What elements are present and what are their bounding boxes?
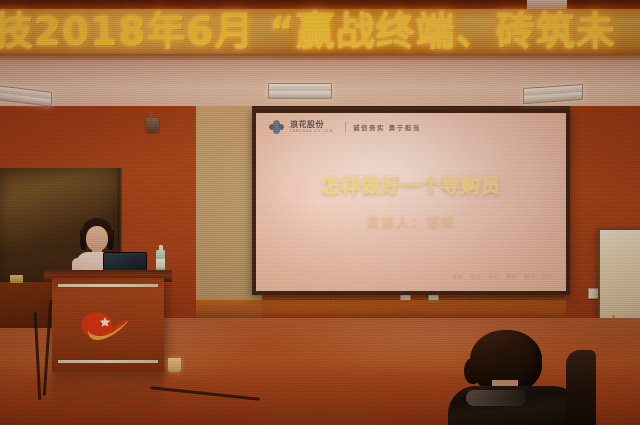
conference-room-photo: 浪花股份 LANGHUA CO.,LTD 诚信务实 勇于担当 怎样做好一个导购员… [0,0,640,425]
slide-footer-tag: 专心 [487,273,500,281]
podium-logo [78,308,134,348]
slide-footer-tags: 专业 专注 专心 责任 担当 执行 [451,273,554,281]
speaker-podium [52,278,164,372]
podium-trim-top [58,284,158,287]
slide-footer-tag: 责任 [505,273,518,281]
slide-subtitle: 演讲人：邹峰 [256,212,566,231]
laptop-screen [107,255,143,271]
slide-footer-tag: 担当 [523,273,536,281]
banner-text: 技2018年6月 “赢战终端、砖筑未 [0,6,640,52]
logo-company-sub: LANGHUA CO.,LTD [290,130,333,133]
logo-wordmark: 浪花股份 LANGHUA CO.,LTD [290,121,333,134]
attendee-second-person [566,350,596,425]
logo-tagline: 诚信务实 勇于担当 [345,122,421,132]
flipchart-easel [598,228,640,318]
slide-company-logo: 浪花股份 LANGHUA CO.,LTD 诚信务实 勇于担当 [269,120,421,134]
slide-footer-tag: 执行 [541,273,554,281]
swoosh-star-icon [78,310,132,344]
side-table-object [10,275,23,283]
bottle-label [156,259,165,268]
company-mark-icon [269,120,284,134]
led-banner: 技2018年6月 “赢战终端、砖筑未 [0,0,640,54]
podium-trim-bottom [58,360,158,363]
slide-footer-tag: 专业 [451,273,464,281]
baseboard-trim [196,300,566,320]
slide-title: 怎样做好一个导购员 [256,171,566,198]
projection-screen: 浪花股份 LANGHUA CO.,LTD 诚信务实 勇于担当 怎样做好一个导购员… [252,109,570,295]
podium-floor-reflection [52,372,164,412]
slide-footer-tag: 专注 [469,273,482,281]
logo-company-name: 浪花股份 [290,121,333,129]
side-table [0,282,54,328]
seated-attendee [452,330,580,425]
ceiling-projector [146,118,159,132]
recessed-light-center-icon [268,83,332,99]
projector-glow [256,113,566,291]
presentation-slide: 浪花股份 LANGHUA CO.,LTD 诚信务实 勇于担当 怎样做好一个导购员… [256,113,566,291]
floor-light-cup [168,358,181,372]
